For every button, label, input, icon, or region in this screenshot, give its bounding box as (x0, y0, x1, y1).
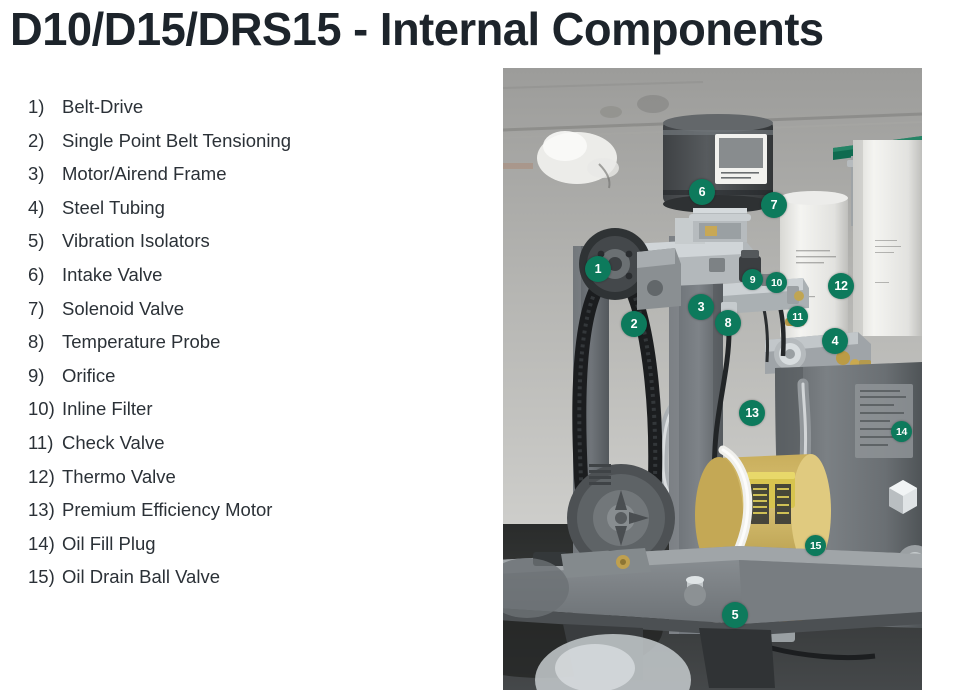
callout-badge-14[interactable]: 14 (891, 421, 912, 442)
list-item-number: 9) (0, 365, 62, 387)
list-item: 14) Oil Fill Plug (0, 533, 470, 567)
list-item: 13) Premium Efficiency Motor (0, 499, 470, 533)
list-item: 7) Solenoid Valve (0, 298, 470, 332)
list-item-label: Vibration Isolators (62, 230, 470, 252)
list-item: 4) Steel Tubing (0, 197, 470, 231)
list-item-label: Oil Fill Plug (62, 533, 470, 555)
list-item-number: 5) (0, 230, 62, 252)
list-item-number: 8) (0, 331, 62, 353)
list-item-number: 10) (0, 398, 62, 420)
list-item-label: Check Valve (62, 432, 470, 454)
list-item: 15) Oil Drain Ball Valve (0, 566, 470, 600)
list-item-number: 12) (0, 466, 62, 488)
compressor-photo (503, 68, 922, 690)
component-list: 1) Belt-Drive 2) Single Point Belt Tensi… (0, 96, 470, 600)
list-item-label: Orifice (62, 365, 470, 387)
callout-badge-5[interactable]: 5 (722, 602, 748, 628)
list-item-number: 4) (0, 197, 62, 219)
list-item-number: 13) (0, 499, 62, 521)
list-item-label: Single Point Belt Tensioning (62, 130, 470, 152)
list-item: 8) Temperature Probe (0, 331, 470, 365)
list-item-label: Motor/Airend Frame (62, 163, 470, 185)
list-item-label: Premium Efficiency Motor (62, 499, 470, 521)
list-item: 6) Intake Valve (0, 264, 470, 298)
list-item: 3) Motor/Airend Frame (0, 163, 470, 197)
list-item-label: Oil Drain Ball Valve (62, 566, 470, 588)
list-item: 5) Vibration Isolators (0, 230, 470, 264)
list-item: 10) Inline Filter (0, 398, 470, 432)
callout-badge-4[interactable]: 4 (822, 328, 848, 354)
callout-badge-7[interactable]: 7 (761, 192, 787, 218)
callout-badge-13[interactable]: 13 (739, 400, 765, 426)
list-item-number: 14) (0, 533, 62, 555)
list-item-number: 3) (0, 163, 62, 185)
list-item-label: Steel Tubing (62, 197, 470, 219)
list-item-number: 6) (0, 264, 62, 286)
list-item-number: 11) (0, 432, 62, 454)
page-title: D10/D15/DRS15 - Internal Components (10, 2, 946, 58)
callout-badge-1[interactable]: 1 (585, 256, 611, 282)
list-item: 9) Orifice (0, 365, 470, 399)
callout-badge-8[interactable]: 8 (715, 310, 741, 336)
list-item-label: Solenoid Valve (62, 298, 470, 320)
list-item: 2) Single Point Belt Tensioning (0, 130, 470, 164)
list-item-label: Intake Valve (62, 264, 470, 286)
list-item-number: 2) (0, 130, 62, 152)
list-item-number: 1) (0, 96, 62, 118)
list-item: 12) Thermo Valve (0, 466, 470, 500)
list-item-number: 7) (0, 298, 62, 320)
callout-badge-10[interactable]: 10 (766, 272, 787, 293)
callout-badge-3[interactable]: 3 (688, 294, 714, 320)
callout-badge-12[interactable]: 12 (828, 273, 854, 299)
list-item-label: Belt-Drive (62, 96, 470, 118)
callout-badge-9[interactable]: 9 (742, 269, 763, 290)
list-item-label: Inline Filter (62, 398, 470, 420)
list-item-number: 15) (0, 566, 62, 588)
list-item: 1) Belt-Drive (0, 96, 470, 130)
list-item-label: Temperature Probe (62, 331, 470, 353)
list-item: 11) Check Valve (0, 432, 470, 466)
callout-badge-2[interactable]: 2 (621, 311, 647, 337)
callout-badge-11[interactable]: 11 (787, 306, 808, 327)
callout-badge-15[interactable]: 15 (805, 535, 826, 556)
list-item-label: Thermo Valve (62, 466, 470, 488)
callout-badge-6[interactable]: 6 (689, 179, 715, 205)
